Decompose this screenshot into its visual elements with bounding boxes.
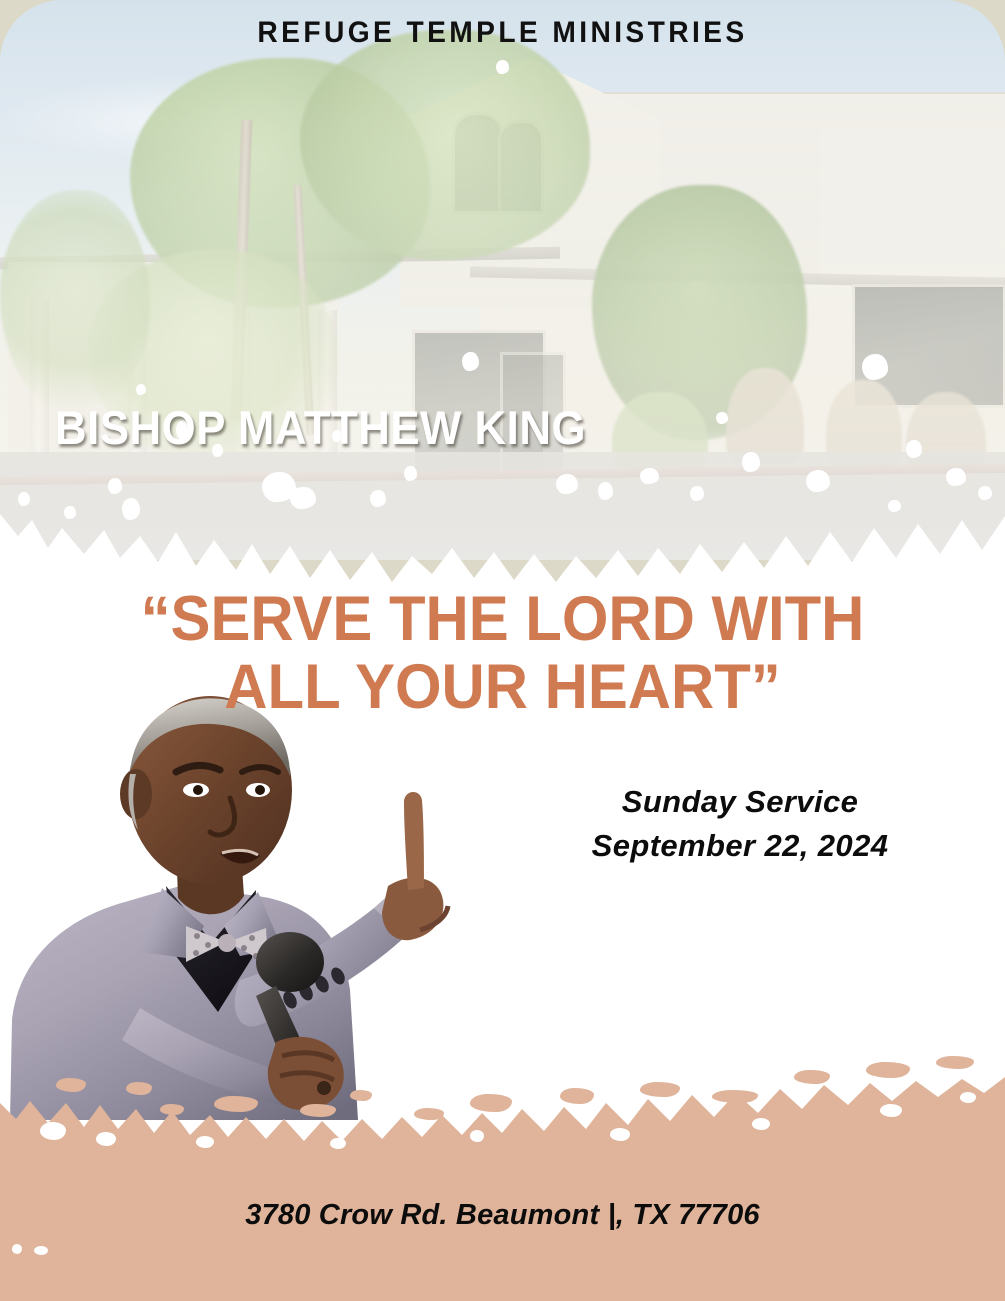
torn-paper-speck [404, 466, 417, 481]
footer-band-speck [300, 1104, 336, 1117]
footer-band-speck [794, 1070, 830, 1084]
service-details: Sunday Service September 22, 2024 [500, 780, 980, 868]
ear [120, 769, 152, 819]
torn-paper-speck [978, 486, 992, 500]
footer-band-notch [330, 1138, 346, 1149]
torn-paper-speck [906, 440, 922, 458]
footer-band-speck [126, 1082, 152, 1095]
footer-band-speck [160, 1104, 184, 1115]
footer-band-notch [610, 1128, 630, 1141]
torn-paper-speck [862, 354, 888, 380]
service-occasion: Sunday Service [500, 780, 980, 824]
torn-paper-speck [290, 487, 316, 509]
pupil-right [255, 785, 265, 795]
footer-band-speck [712, 1090, 758, 1103]
photo-fade-overlay [0, 0, 1005, 560]
footer-band-notch [752, 1118, 770, 1130]
ring [317, 1081, 331, 1095]
torn-paper-speck [598, 482, 613, 500]
torn-paper-speck [640, 468, 659, 484]
torn-paper-speck [136, 384, 146, 395]
footer-band-speck [640, 1082, 680, 1097]
pointing-hand [382, 792, 448, 940]
torn-paper-speck [946, 468, 966, 486]
torn-paper-speck [108, 478, 122, 494]
bishop-portrait-photo [0, 690, 490, 1120]
sermon-quote-line-2: ALL YOUR HEART” [25, 653, 980, 721]
church-address: 3780 Crow Rd. Beaumont |, TX 77706 [0, 1199, 1005, 1232]
footer-band-notch [880, 1104, 902, 1117]
torn-paper-speck [556, 474, 578, 494]
torn-paper-speck [370, 490, 386, 507]
torn-paper-speck [742, 452, 760, 472]
footer-band-notch [960, 1092, 976, 1103]
footer-band-notch [196, 1136, 214, 1148]
sermon-quote-line-1: “SERVE THE LORD WITH [25, 585, 980, 653]
torn-paper-speck [888, 500, 901, 512]
footer-band-speck [936, 1056, 974, 1069]
index-finger [404, 792, 424, 890]
page-title-organization: REFUGE TEMPLE MINISTRIES [30, 16, 975, 50]
speaker-name: BISHOP MATTHEW KING [55, 400, 586, 455]
footer-band-notch [12, 1244, 22, 1254]
footer-band-speck [560, 1088, 594, 1104]
footer-band-notch [34, 1246, 48, 1255]
footer-band-speck [214, 1096, 258, 1112]
flyer-page: REFUGE TEMPLE MINISTRIES BISHOP MATTHEW … [0, 0, 1005, 1301]
torn-paper-speck [690, 486, 704, 501]
torn-paper-speck [496, 60, 509, 74]
footer-band-notch [40, 1122, 66, 1140]
microphone-head [256, 932, 324, 992]
torn-paper-speck [18, 492, 30, 506]
footer-band-speck [56, 1078, 86, 1092]
footer-band-speck [350, 1090, 372, 1101]
footer-band-speck [414, 1108, 444, 1120]
service-date: September 22, 2024 [500, 824, 980, 868]
footer-band-speck [866, 1062, 910, 1078]
footer-band-notch [96, 1132, 116, 1146]
sermon-quote: “SERVE THE LORD WITH ALL YOUR HEART” [25, 585, 980, 721]
torn-paper-speck [462, 352, 479, 371]
footer-band-speck [470, 1094, 512, 1112]
torn-paper-speck [716, 412, 728, 424]
torn-paper-speck [122, 498, 140, 520]
torn-paper-speck [64, 506, 76, 519]
pupil-left [193, 785, 203, 795]
footer-band-notch [470, 1130, 484, 1142]
church-building-photo [0, 0, 1005, 560]
torn-paper-speck [806, 470, 830, 492]
